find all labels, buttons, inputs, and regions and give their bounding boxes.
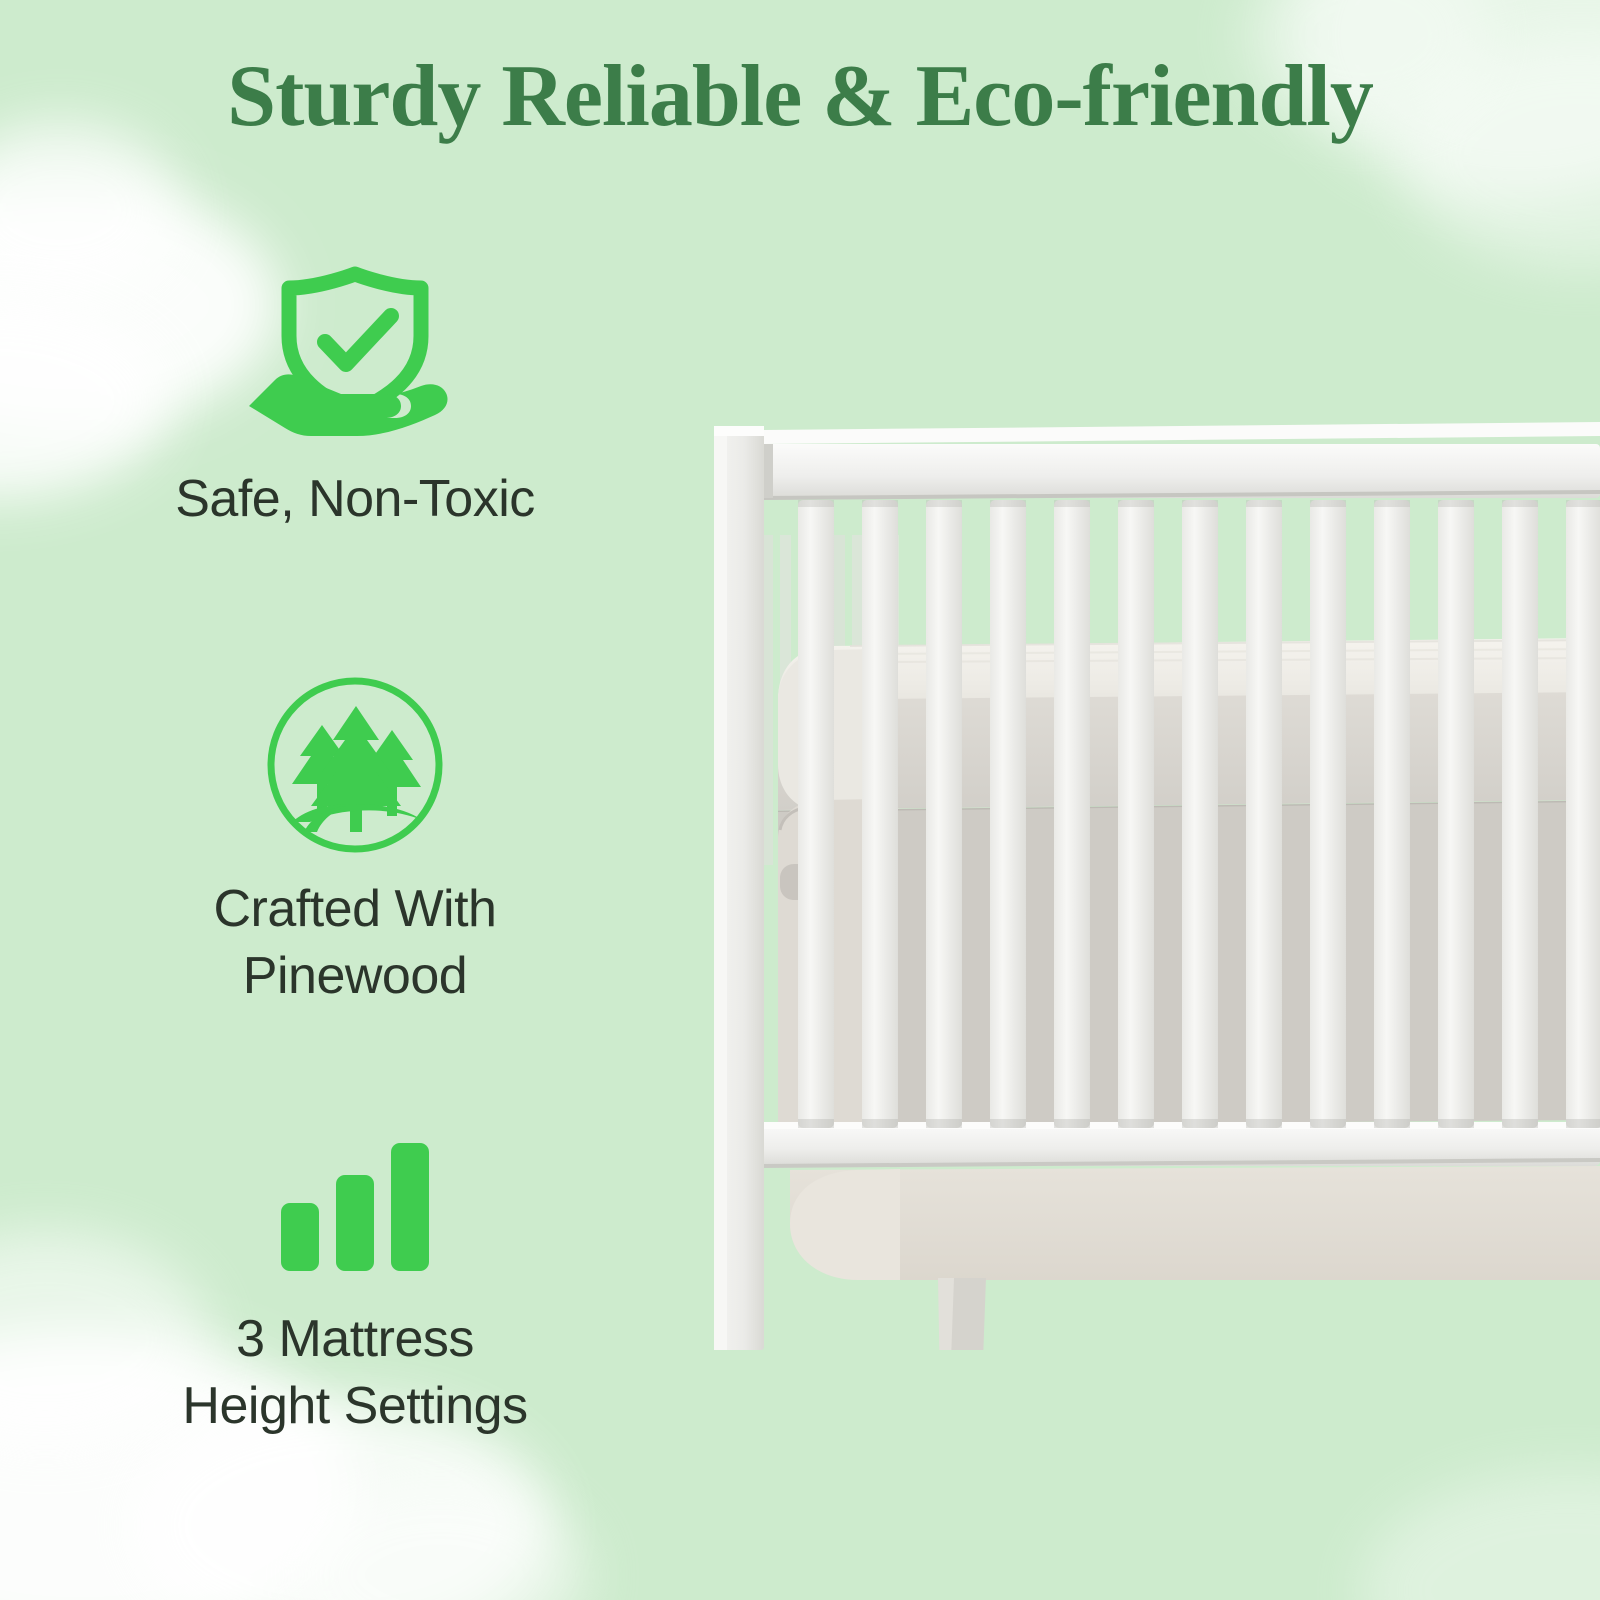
page-title: Sturdy Reliable & Eco-friendly — [0, 46, 1600, 147]
feature-item-crafted-with-pinewood: Crafted With Pinewood — [120, 670, 590, 1009]
shield-check-in-hand-icon — [120, 250, 590, 450]
pine-trees-circle-icon — [120, 670, 590, 860]
feature-item-safe-non-toxic: Safe, Non-Toxic — [120, 250, 590, 533]
feature-label: Crafted With Pinewood — [120, 876, 590, 1009]
product-feature-graphic: Sturdy Reliable & Eco-friendly Safe, Non… — [0, 0, 1600, 1600]
feature-label: 3 Mattress Height Settings — [120, 1306, 590, 1439]
feature-label: Safe, Non-Toxic — [120, 466, 590, 533]
ascending-bars-icon — [120, 1100, 590, 1290]
feature-item-mattress-height-settings: 3 Mattress Height Settings — [120, 1100, 590, 1439]
cloud-decoration — [1360, 1470, 1600, 1600]
crib-product-image — [700, 400, 1600, 1350]
cloud-decoration — [290, 1480, 590, 1600]
